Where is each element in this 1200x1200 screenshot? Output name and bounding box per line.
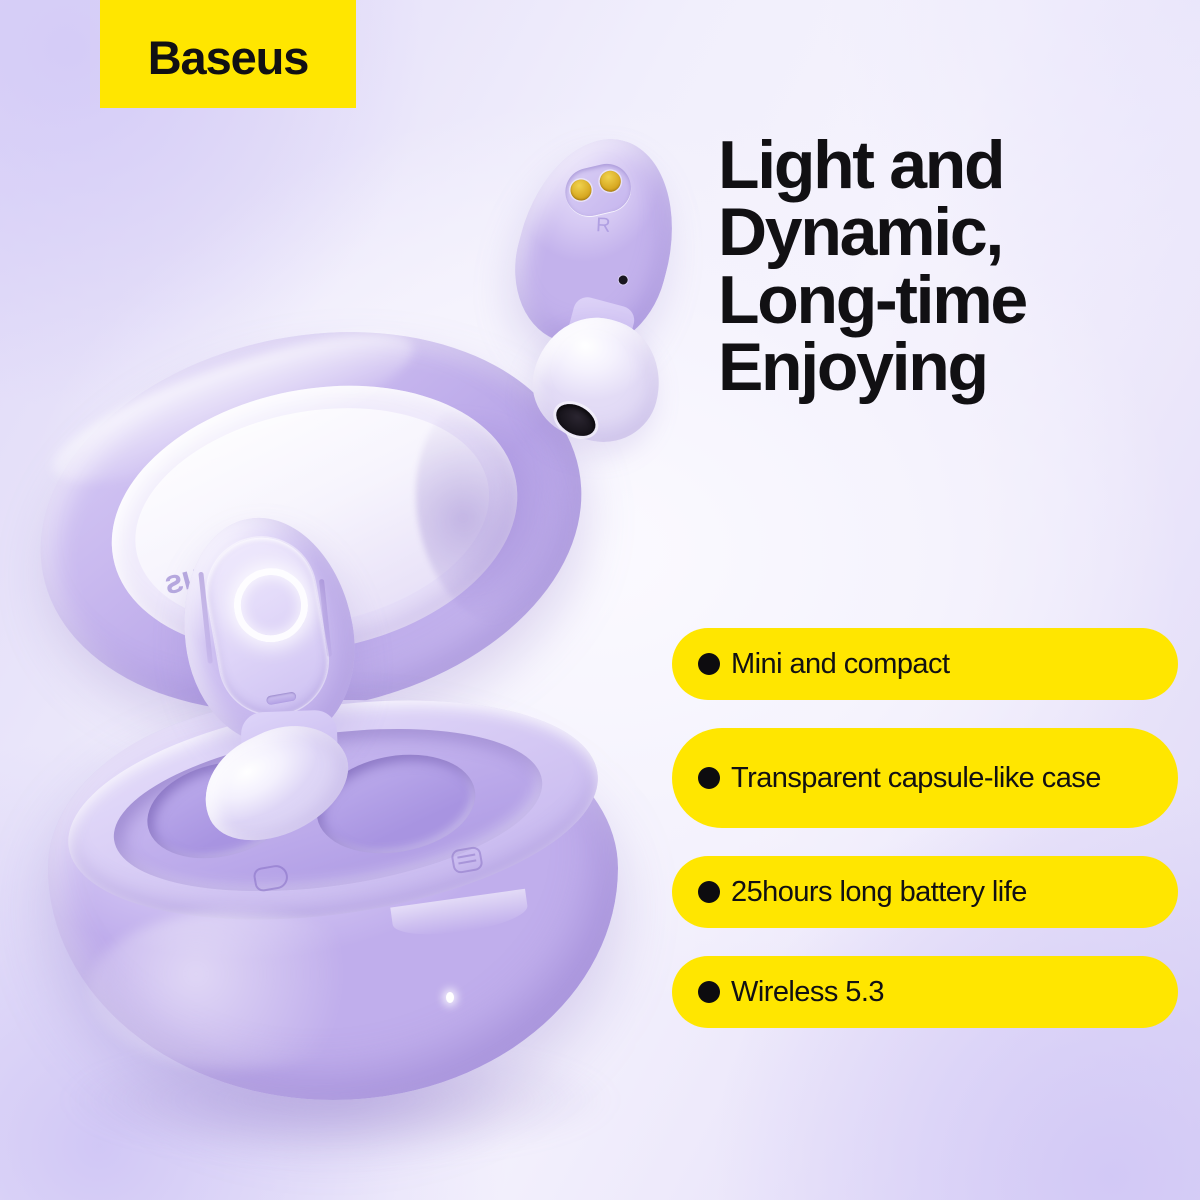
case-body-sheen <box>88 910 388 1070</box>
page-headline: Light and Dynamic, Long-time Enjoying <box>718 132 1188 401</box>
poster-canvas: Baseus Baseus <box>0 0 1200 1200</box>
feature-list: Mini and compact Transparent capsule-lik… <box>672 628 1178 1056</box>
product-illustration: Baseus <box>0 0 700 1200</box>
headline-line-2: Dynamic, <box>718 199 1188 266</box>
headline-line-4: Enjoying <box>718 334 1188 401</box>
feature-label: Transparent capsule-like case <box>731 762 1101 795</box>
right-channel-marking: R <box>595 214 611 238</box>
bullet-dot-icon <box>698 767 720 789</box>
feature-pill-battery-life[interactable]: 25hours long battery life <box>672 856 1178 928</box>
feature-pill-transparent-capsule-like-case[interactable]: Transparent capsule-like case <box>672 728 1178 828</box>
floating-right-earbud: R <box>463 119 736 470</box>
feature-pill-mini-and-compact[interactable]: Mini and compact <box>672 628 1178 700</box>
feature-label: Mini and compact <box>731 648 949 681</box>
feature-label: 25hours long battery life <box>731 876 1027 909</box>
charging-led-indicator <box>446 992 454 1003</box>
feature-label: Wireless 5.3 <box>731 976 884 1009</box>
bullet-dot-icon <box>698 981 720 1003</box>
headline-line-1: Light and <box>718 132 1188 199</box>
feature-pill-wireless-version[interactable]: Wireless 5.3 <box>672 956 1178 1028</box>
bullet-dot-icon <box>698 653 720 675</box>
headline-line-3: Long-time <box>718 267 1188 334</box>
bullet-dot-icon <box>698 881 720 903</box>
